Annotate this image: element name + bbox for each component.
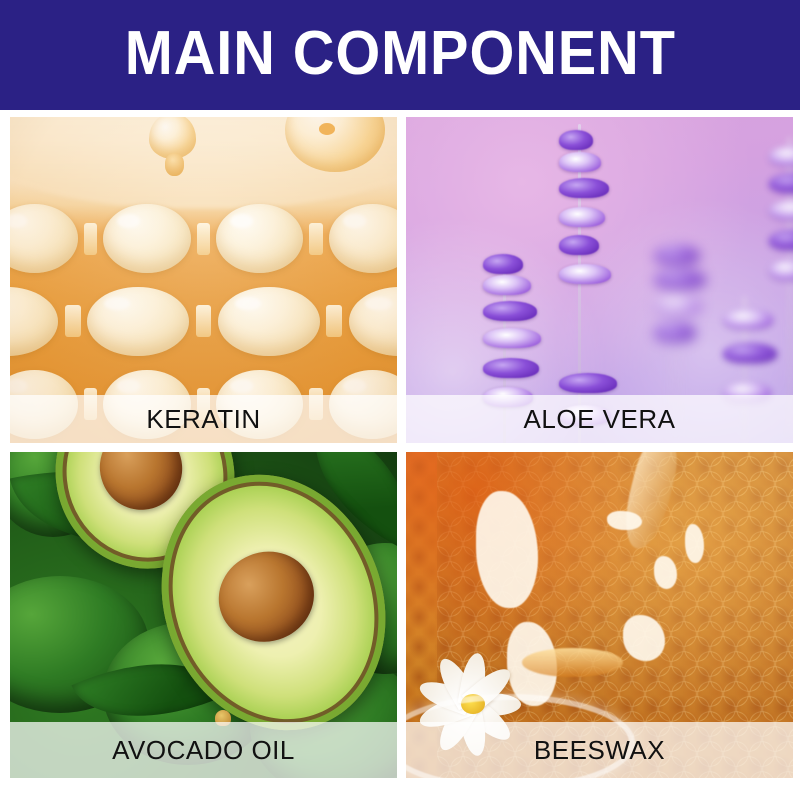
lavender-floret [559,264,611,284]
keratin-capsule [218,287,319,356]
lavender-floret [769,146,793,166]
lavender-floret [483,328,541,348]
ingredient-card-avocado-oil[interactable]: AVOCADO OIL [10,452,397,778]
lavender-floret [559,207,605,227]
lavender-floret [654,295,702,315]
ingredient-card-keratin[interactable]: KERATIN [10,117,397,443]
ingredient-label-aloe-vera: ALOE VERA [406,395,793,443]
lavender-floret [559,373,617,393]
lavender-floret [654,245,700,265]
ingredient-label-beeswax: BEESWAX [406,722,793,778]
capsule-separator [326,305,342,337]
lavender-floret [559,235,599,255]
lavender-floret [483,301,537,321]
avocado-pit [91,452,193,519]
lavender-floret [723,343,777,363]
main-component-poster: MAIN COMPONENT [0,0,800,800]
lavender-floret [483,275,531,295]
capsule-row [10,281,397,361]
lavender-floret [769,173,793,193]
oil-droplet-small-icon [165,153,184,176]
capsule-separator [197,223,211,255]
ingredient-card-beeswax[interactable]: BEESWAX [406,452,793,778]
lavender-floret [723,309,773,329]
lavender-floret [769,260,793,280]
lavender-floret [559,130,593,150]
ingredient-card-aloe-vera[interactable]: ALOE VERA [406,117,793,443]
capsule-separator [84,223,98,255]
capsule-separator [309,223,323,255]
keratin-capsule [10,287,58,356]
header-banner: MAIN COMPONENT [0,0,800,110]
lavender-floret [483,254,523,274]
keratin-capsule [329,204,397,273]
capsule-separator [65,305,81,337]
capsule-separator [196,305,212,337]
ingredient-label-keratin: KERATIN [10,395,397,443]
keratin-capsule [349,287,397,356]
wax-flake [607,511,642,531]
honey-drizzle [522,648,623,677]
page-title: MAIN COMPONENT [124,23,675,85]
capsule-row [10,199,397,279]
keratin-capsule [103,204,190,273]
lavender-floret [559,152,601,172]
wax-flake [654,556,677,589]
lavender-floret [654,269,706,289]
ingredient-label-avocado-oil: AVOCADO OIL [10,722,397,778]
lavender-floret [654,322,696,342]
lavender-floret [769,230,793,250]
lavender-floret [483,358,539,378]
ingredient-grid: KERATIN [10,117,790,778]
keratin-capsule [10,204,78,273]
lavender-floret [559,178,609,198]
avocado-pit [205,537,327,655]
keratin-capsule [87,287,188,356]
keratin-capsule [216,204,303,273]
lavender-floret [769,200,793,220]
